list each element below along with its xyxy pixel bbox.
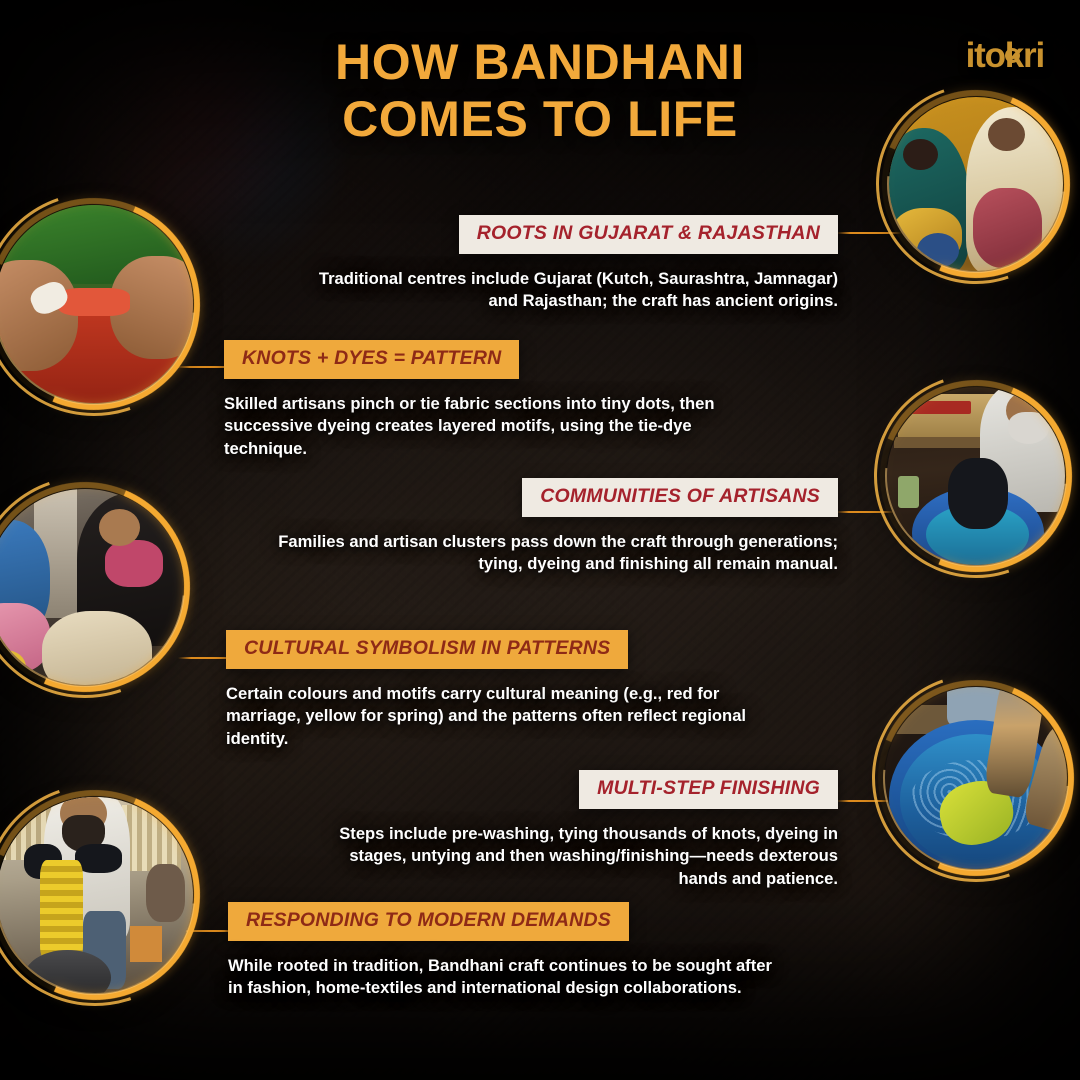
step-block-6: RESPONDING TO MODERN DEMANDS While roote…	[228, 902, 788, 1000]
step-heading-1[interactable]: ROOTS IN GUJARAT & RAJASTHAN	[459, 215, 838, 254]
step-block-4: CULTURAL SYMBOLISM IN PATTERNS Certain c…	[226, 630, 766, 750]
photo-woman-tying-cloth	[0, 480, 192, 694]
brand-logo-itokri[interactable]: itokri	[966, 36, 1044, 76]
step-block-3: COMMUNITIES OF ARTISANS Families and art…	[246, 478, 838, 576]
step-text-1: Traditional centres include Gujarat (Kut…	[286, 268, 838, 313]
step-block-1: ROOTS IN GUJARAT & RAJASTHAN Traditional…	[286, 215, 838, 313]
photo-artisan-dyeing-tub	[878, 378, 1074, 574]
photo-blue-dye-vat	[876, 678, 1076, 878]
step-text-2: Skilled artisans pinch or tie fabric sec…	[224, 393, 744, 461]
step-text-5: Steps include pre-washing, tying thousan…	[300, 823, 838, 891]
step-block-5: MULTI-STEP FINISHING Steps include pre-w…	[300, 770, 838, 890]
photo-scene	[889, 97, 1063, 271]
infographic-poster: HOW BANDHANI COMES TO LIFE itokri	[0, 0, 1080, 1080]
step-text-3: Families and artisan clusters pass down …	[246, 531, 838, 576]
photo-scene	[0, 489, 183, 685]
photo-scene	[0, 205, 193, 403]
step-heading-5[interactable]: MULTI-STEP FINISHING	[579, 770, 838, 809]
step-heading-2[interactable]: KNOTS + DYES = PATTERN	[224, 340, 519, 379]
step-heading-3[interactable]: COMMUNITIES OF ARTISANS	[522, 478, 838, 517]
photo-hands-tying-red-cloth	[0, 196, 202, 412]
step-text-4: Certain colours and motifs carry cultura…	[226, 683, 766, 751]
photo-dyer-lifting-skein	[0, 788, 202, 1002]
step-text-6: While rooted in tradition, Bandhani craf…	[228, 955, 788, 1000]
photo-scene	[887, 387, 1065, 565]
step-heading-6[interactable]: RESPONDING TO MODERN DEMANDS	[228, 902, 629, 941]
photo-scene	[0, 797, 193, 993]
photo-women-tying-bandhani	[880, 88, 1072, 280]
brand-logo-ring-icon	[1005, 48, 1020, 63]
step-block-2: KNOTS + DYES = PATTERN Skilled artisans …	[224, 340, 744, 460]
step-heading-4[interactable]: CULTURAL SYMBOLISM IN PATTERNS	[226, 630, 628, 669]
photo-scene	[885, 687, 1067, 869]
